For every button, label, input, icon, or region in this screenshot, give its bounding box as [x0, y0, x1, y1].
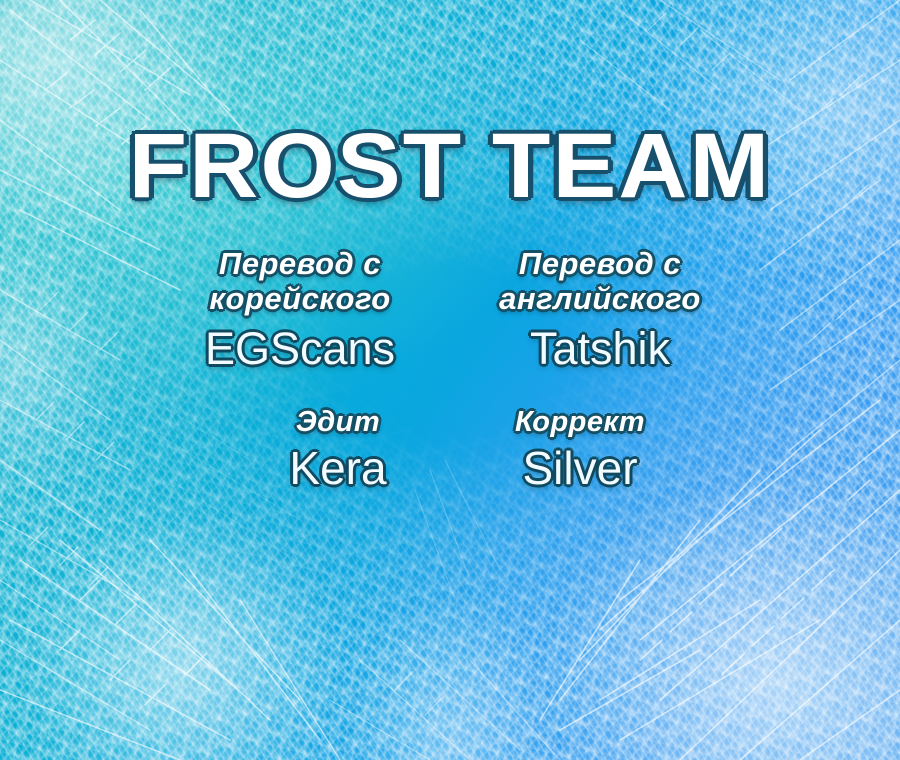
credits-list: Перевод с корейского EGScans Перевод с а…: [0, 246, 900, 492]
content-container: FROST TEAM Перевод с корейского EGScans …: [0, 0, 900, 760]
page-title: FROST TEAM: [129, 120, 772, 212]
credit-role-line: Перевод с: [499, 246, 701, 281]
credit-role-line: корейского: [209, 281, 390, 316]
credit-role-label: Эдит: [296, 406, 380, 439]
credit-person-name: Kera: [289, 444, 386, 492]
credit-row: Перевод с корейского EGScans Перевод с а…: [140, 246, 760, 372]
credit-role-line: Перевод с: [209, 246, 390, 281]
credit-person-name: Silver: [522, 444, 637, 492]
credit-row: Эдит Kera Коррект Silver: [140, 406, 760, 492]
credits-page: FROST TEAM Перевод с корейского EGScans …: [0, 0, 900, 760]
credit-role-line: английского: [499, 281, 701, 316]
credit-entry-proofread: Коррект Silver: [430, 406, 730, 492]
credit-person-name: Tatshik: [530, 325, 670, 372]
credit-role-label: Коррект: [515, 406, 645, 439]
credit-role-label: Перевод с корейского: [209, 246, 390, 316]
credit-entry-translation-korean: Перевод с корейского EGScans: [150, 246, 450, 372]
credit-entry-translation-english: Перевод с английского Tatshik: [450, 246, 750, 372]
credit-person-name: EGScans: [205, 325, 395, 372]
credit-role-label: Перевод с английского: [499, 246, 701, 316]
